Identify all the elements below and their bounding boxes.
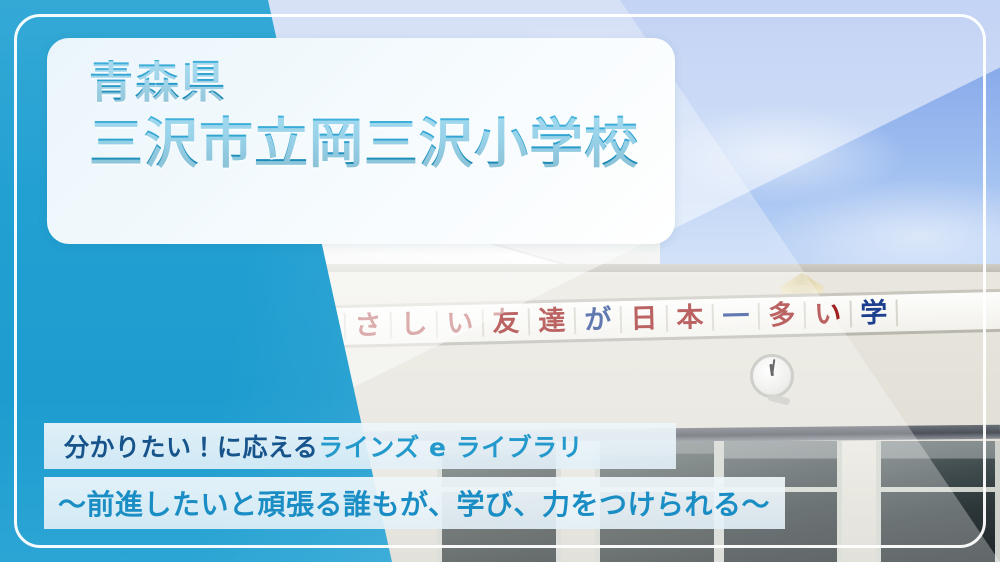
- subtitle-bar-secondary: 〜前進したいと頑張る誰もが、学び、力をつけられる〜: [44, 477, 785, 529]
- title-card: 青森県 三沢市立岡三沢小学校: [47, 38, 675, 244]
- title-slide: やさしい友達が日本一多い学 出しは絶対しません 岡小っ子 青森: [0, 0, 1000, 562]
- prefecture-label: 青森県: [89, 60, 675, 106]
- subtitle-secondary-text: 〜前進したいと頑張る誰もが、学び、力をつけられる〜: [58, 483, 770, 523]
- school-name-title: 三沢市立岡三沢小学校: [89, 114, 675, 174]
- subtitle-primary-light-text: ラインズ e ライブラリ: [318, 428, 583, 464]
- subtitle-primary-dark-text: 分かりたい！に応える: [64, 428, 318, 464]
- subtitle-bar-primary: 分かりたい！に応える ラインズ e ライブラリ: [44, 423, 676, 469]
